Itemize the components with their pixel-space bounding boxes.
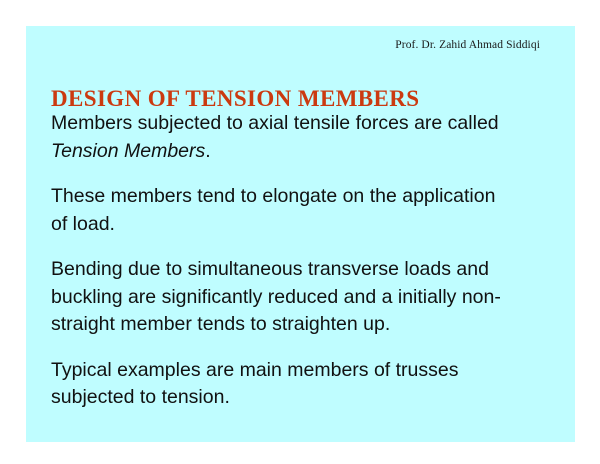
body-paragraph-examples: Typical examples are main members of tru…	[51, 357, 561, 412]
presentation-slide: Prof. Dr. Zahid Ahmad Siddiqi DESIGN OF …	[26, 26, 575, 442]
body-text: buckling are significantly reduced and a…	[51, 286, 501, 308]
body-text: .	[205, 140, 210, 162]
slide-body: Members subjected to axial tensile force…	[51, 110, 561, 412]
body-line: Typical examples are main members of tru…	[51, 357, 561, 385]
body-text: of load.	[51, 213, 115, 235]
body-line: of load.	[51, 211, 561, 239]
body-line: subjected to tension.	[51, 384, 561, 412]
emphasized-term: Tension Members	[51, 140, 205, 162]
body-line: buckling are significantly reduced and a…	[51, 284, 561, 312]
body-line: These members tend to elongate on the ap…	[51, 183, 561, 211]
body-line: Tension Members.	[51, 138, 561, 166]
body-text: These members tend to elongate on the ap…	[51, 185, 495, 207]
body-text: straight member tends to straighten up.	[51, 313, 390, 335]
body-line: Bending due to simultaneous transverse l…	[51, 256, 561, 284]
body-paragraph-bending-buckling: Bending due to simultaneous transverse l…	[51, 256, 561, 339]
body-paragraph-definition: Members subjected to axial tensile force…	[51, 110, 561, 165]
body-text: Bending due to simultaneous transverse l…	[51, 258, 489, 280]
body-line: Members subjected to axial tensile force…	[51, 110, 561, 138]
body-line: straight member tends to straighten up.	[51, 311, 561, 339]
body-paragraph-elongation: These members tend to elongate on the ap…	[51, 183, 561, 238]
body-text: Typical examples are main members of tru…	[51, 359, 458, 381]
body-text: subjected to tension.	[51, 386, 230, 408]
body-text: Members subjected to axial tensile force…	[51, 112, 499, 134]
slide-canvas: Prof. Dr. Zahid Ahmad Siddiqi DESIGN OF …	[0, 0, 600, 464]
author-credit: Prof. Dr. Zahid Ahmad Siddiqi	[26, 39, 540, 52]
